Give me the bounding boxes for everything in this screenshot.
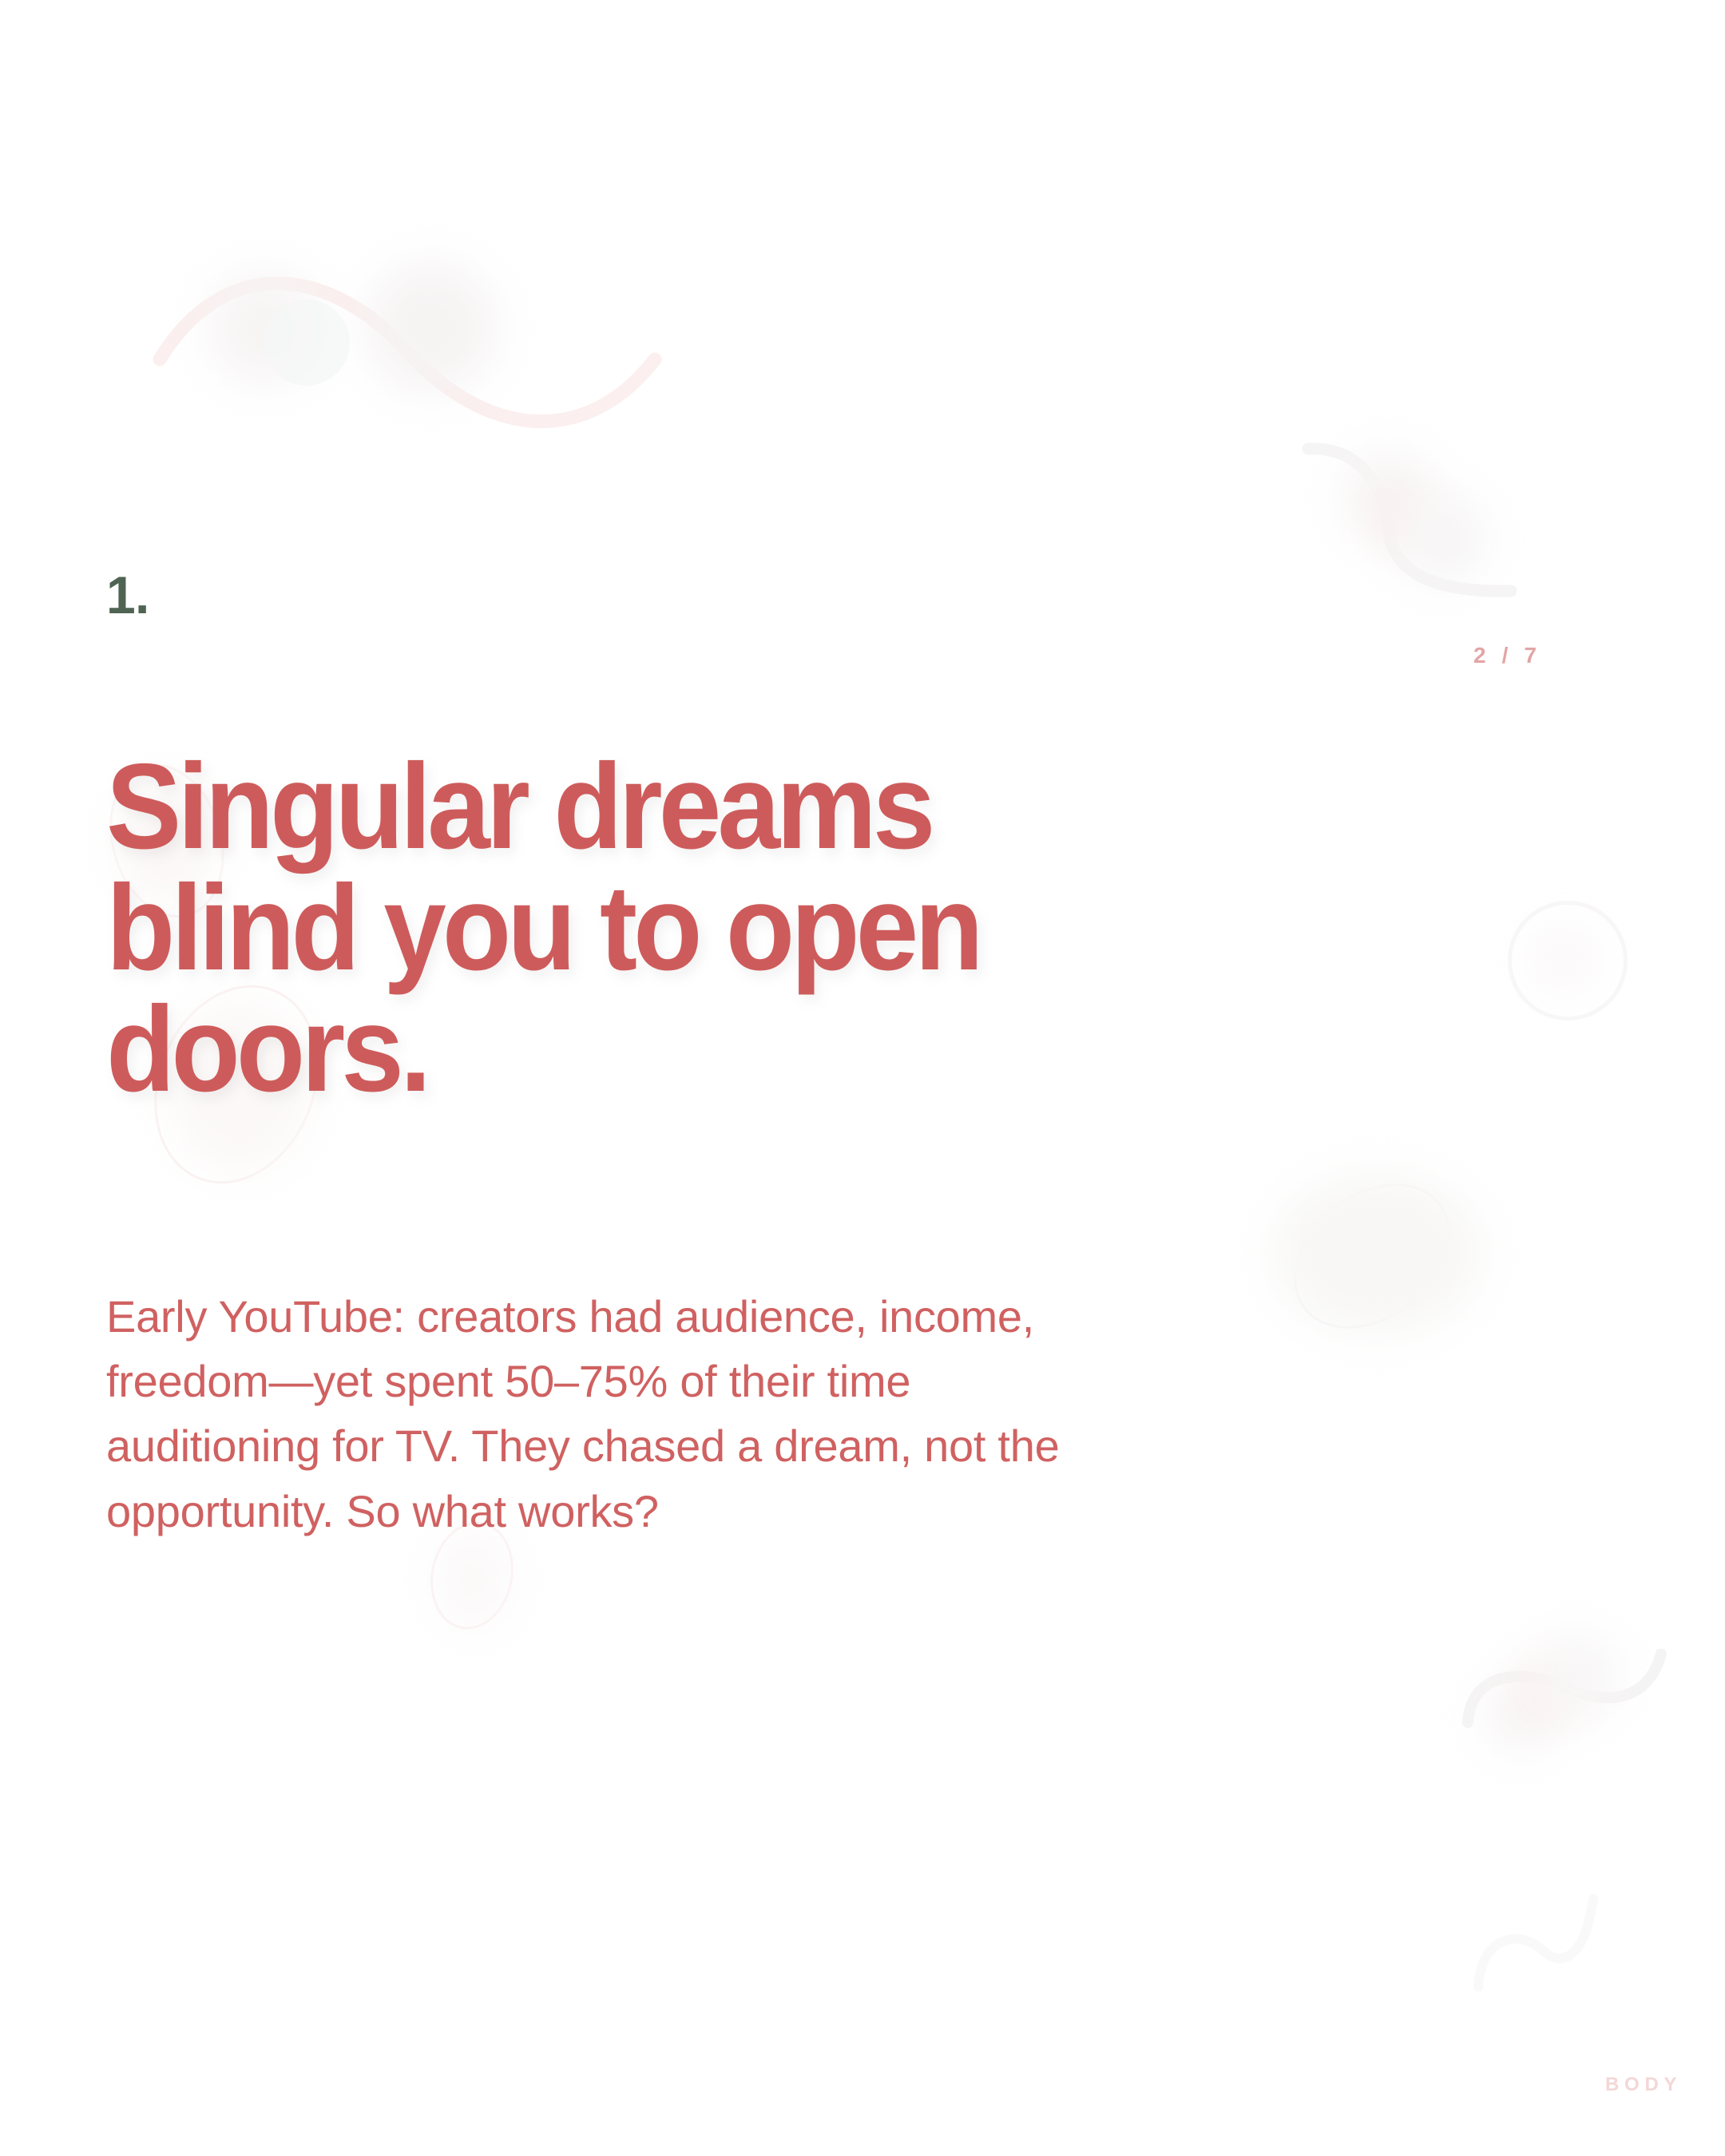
body-paragraph: Early YouTube: creators had audience, in… [106, 1284, 1464, 1544]
slide-content: 1. Singular dreams blind you to open doo… [106, 0, 1624, 2156]
footer-section-tag: BODY [1605, 2074, 1682, 2096]
body-line-1: Early YouTube: creators had audience, in… [106, 1284, 1464, 1349]
slide-canvas: 2 / 7 1. Singular dreams blind you to op… [0, 0, 1725, 2156]
headline-line-1: Singular dreams [106, 746, 1310, 867]
page-title: Singular dreams blind you to open doors. [106, 746, 1310, 1110]
page-counter: 2 / 7 [1473, 643, 1541, 668]
body-line-2: freedom—yet spent 50–75% of their time [106, 1349, 1464, 1413]
body-line-4: opportunity. So what works? [106, 1479, 1464, 1544]
body-line-3: auditioning for TV. They chased a dream,… [106, 1413, 1464, 1478]
headline-line-3: doors. [106, 989, 1310, 1110]
section-number: 1. [106, 569, 149, 621]
headline-line-2: blind you to open [106, 867, 1310, 989]
